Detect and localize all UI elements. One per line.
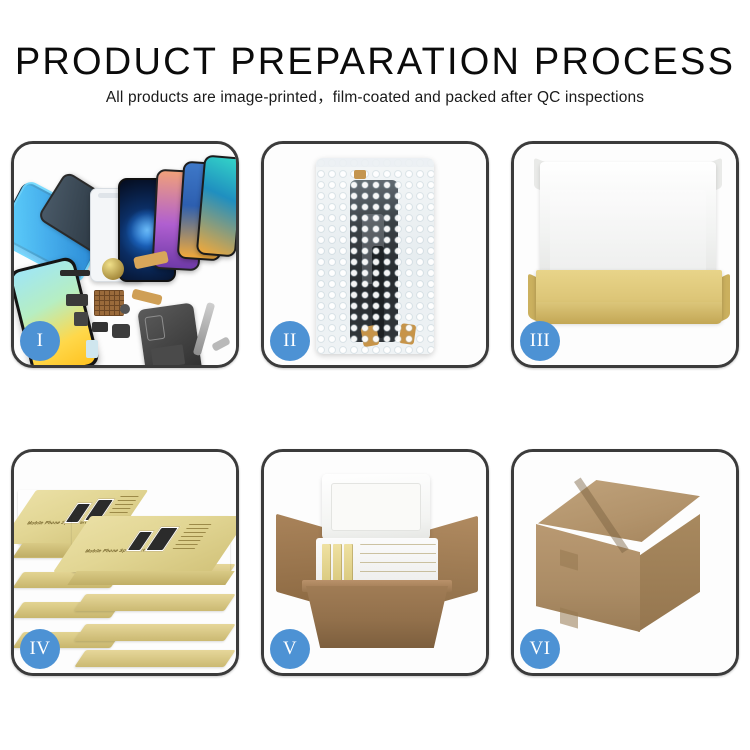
kraft-box-front (536, 302, 722, 324)
phone-back-housing (137, 302, 202, 368)
step-panel-6: VI (511, 449, 739, 676)
screw-tray-icon (94, 290, 124, 316)
step-badge-5: V (270, 629, 310, 669)
bag-tape (354, 170, 366, 179)
bubble-texture (316, 158, 434, 354)
foam-box-lid (322, 474, 430, 540)
step-panel-4: Mobile Phone Spare Parts Mobile Phone Sp… (11, 449, 239, 676)
flex-cable-part-2 (131, 289, 163, 306)
page-title: PRODUCT PREPARATION PROCESS (0, 40, 750, 84)
process-step-grid: I II (11, 141, 739, 676)
camera-module-part (112, 324, 130, 338)
small-part-2 (74, 312, 88, 326)
step-badge-4: IV (20, 629, 60, 669)
step-panel-3: III (511, 141, 739, 368)
small-part-3 (92, 322, 108, 332)
foam-sheet (550, 190, 706, 274)
page-subtitle: All products are image-printed，film-coat… (0, 88, 750, 108)
vibration-motor-part (102, 258, 124, 280)
yellow-box-upright-1 (322, 544, 331, 584)
step-panel-1: I (11, 141, 239, 368)
button-part (120, 304, 130, 314)
step-panel-5: V (261, 449, 489, 676)
screwdriver-tool-icon (211, 336, 231, 352)
bubble-wrap-bag (316, 158, 434, 354)
stacked-box-right-4 (74, 650, 235, 667)
step-badge-3: III (520, 321, 560, 361)
carton-face-left (536, 524, 640, 632)
earpiece-speaker-part (60, 270, 90, 276)
step-badge-6: VI (520, 629, 560, 669)
header: PRODUCT PREPARATION PROCESS All products… (0, 0, 750, 130)
retail-box-top-right: Mobile Phone Spare Parts (72, 516, 230, 572)
yellow-box-upright-2 (333, 544, 342, 584)
carton-body (306, 586, 448, 648)
small-part-1 (66, 294, 88, 306)
yellow-boxes-stacked (360, 544, 436, 584)
step-panel-2: II (261, 141, 489, 368)
stacked-box-right-3 (74, 624, 235, 641)
sim-tray-part (86, 340, 98, 358)
phone-display-teal (196, 154, 239, 257)
step-badge-2: II (270, 321, 310, 361)
product-preparation-infographic: PRODUCT PREPARATION PROCESS All products… (0, 0, 750, 750)
bag-seal (316, 158, 434, 167)
step-badge-1: I (20, 321, 60, 361)
stacked-box-right-2 (74, 594, 235, 611)
yellow-box-upright-3 (344, 544, 353, 584)
